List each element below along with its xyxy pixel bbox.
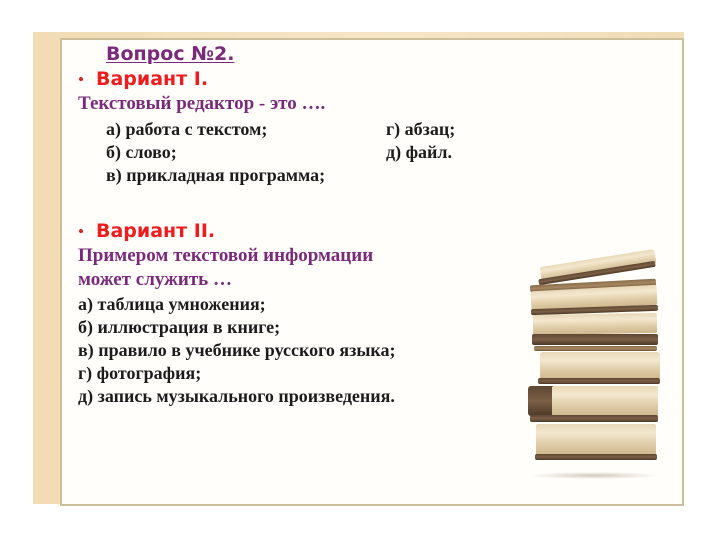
variant-1-stem: Текстовый редактор - это …. [78, 92, 598, 115]
variant-1-options-left: а) работа с текстом; б) слово; в) прикла… [106, 118, 598, 187]
section-spacer [78, 187, 598, 217]
book-cover [535, 454, 657, 460]
variant-1-label: Вариант I. [96, 69, 208, 91]
bullet-icon: • [78, 223, 96, 240]
variant-2-options: а) таблица умножения; б) иллюстрация в к… [78, 293, 598, 408]
slide-canvas: Вопрос №2. • Вариант I. Текстовый редакт… [0, 0, 720, 540]
variant-2-stem-line-1: Примером текстовой информации [78, 244, 598, 267]
page-title: Вопрос №2. [106, 44, 598, 65]
option-item[interactable]: д) файл. [386, 141, 455, 164]
option-item[interactable]: б) иллюстрация в книге; [78, 316, 598, 339]
variant-2-stem-line-2: может служить … [78, 268, 598, 291]
option-item[interactable]: в) прикладная программа; [106, 164, 598, 187]
book-page-block [536, 424, 656, 456]
option-item[interactable]: а) таблица умножения; [78, 293, 598, 316]
bullet-icon: • [78, 71, 96, 88]
option-item[interactable]: а) работа с текстом; [106, 118, 598, 141]
variant-2-heading: • Вариант II. [78, 221, 598, 243]
variant-1-answer-grid: а) работа с текстом; б) слово; в) прикла… [78, 118, 598, 187]
variant-1-options-right: г) абзац; д) файл. [386, 118, 455, 164]
option-item[interactable]: д) запись музыкального произведения. [78, 385, 598, 408]
question-content: Вопрос №2. • Вариант I. Текстовый редакт… [78, 44, 598, 408]
option-item[interactable]: б) слово; [106, 141, 598, 164]
book-shadow [530, 472, 658, 479]
option-item[interactable]: г) фотография; [78, 362, 598, 385]
variant-2-label: Вариант II. [96, 221, 215, 243]
option-item[interactable]: в) правило в учебнике русского языка; [78, 339, 598, 362]
book-cover [530, 415, 658, 422]
option-item[interactable]: г) абзац; [386, 118, 455, 141]
variant-1-heading: • Вариант I. [78, 69, 598, 91]
